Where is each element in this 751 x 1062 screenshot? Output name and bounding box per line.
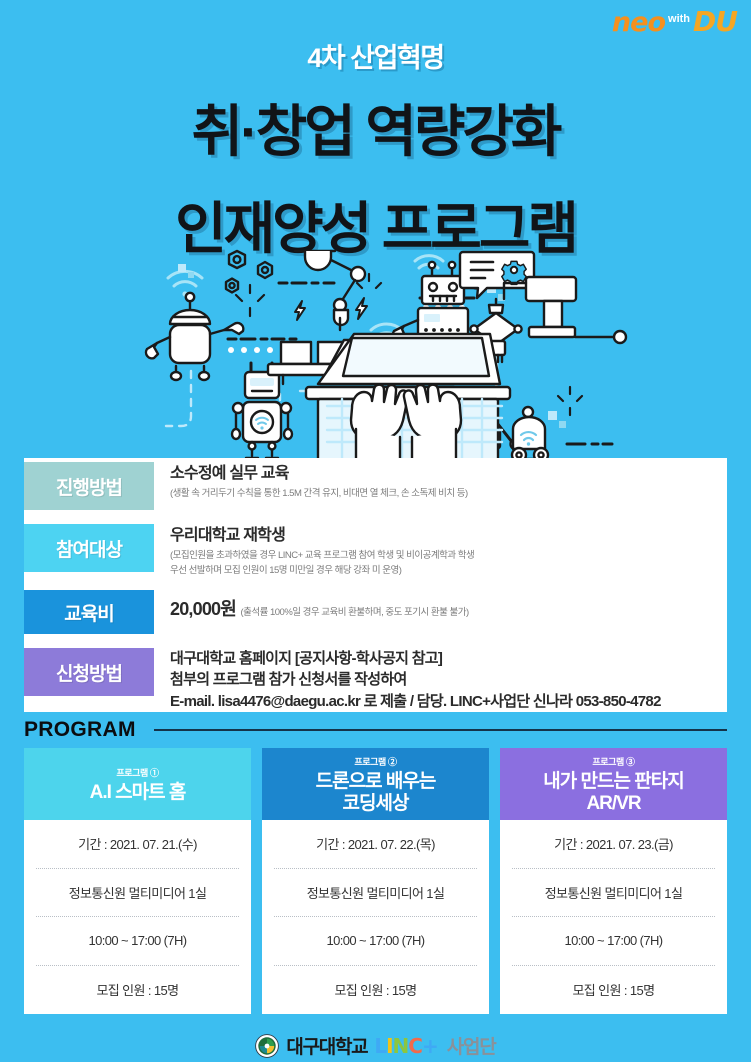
poster-headline: 4차 산업혁명 취·창업 역량강화 인재양성 프로그램 [0, 36, 751, 265]
laptop-hands-icon [306, 334, 510, 461]
program-card-3-title-line1: 내가 만드는 판타지 [500, 771, 727, 793]
sparkle-icon [558, 387, 582, 415]
info-row-method: 진행방법 소수정예 실무 교육 (생활 속 거리두기 수칙을 통한 1.5M 간… [24, 462, 727, 510]
program-card-2-time: 10:00 ~ 17:00 (7H) [274, 917, 477, 966]
program-card-3[interactable]: 프로그램 ③ 내가 만드는 판타지 AR/VR 기간 : 2021. 07. 2… [500, 748, 727, 1014]
linc-letter-plus: + [422, 1034, 438, 1058]
decor-square [188, 272, 194, 278]
program-card-3-body: 기간 : 2021. 07. 23.(금) 정보통신원 멀티미디어 1실 10:… [500, 820, 727, 1014]
program-card-1-time: 10:00 ~ 17:00 (7H) [36, 917, 239, 966]
program-card-3-time: 10:00 ~ 17:00 (7H) [512, 917, 715, 966]
program-card-2-place: 정보통신원 멀티미디어 1실 [274, 869, 477, 918]
footer-team-name: 사업단 [447, 1032, 496, 1059]
program-section-header: PROGRAM [24, 718, 727, 742]
program-card-3-place: 정보통신원 멀티미디어 1실 [512, 869, 715, 918]
program-card-1-period: 기간 : 2021. 07. 21.(수) [36, 820, 239, 869]
footer-logos: 대구대학교 L I N C + 사업단 [0, 1032, 751, 1059]
linc-letter-c: C [408, 1034, 422, 1058]
info-row-apply-line2: 첨부의 프로그램 참가 신청서를 작성하여 [170, 669, 661, 690]
program-card-2-period: 기간 : 2021. 07. 22.(목) [274, 820, 477, 869]
program-card-3-period: 기간 : 2021. 07. 23.(금) [512, 820, 715, 869]
info-row-target-body: 우리대학교 재학생 (모집인원을 초과하였을 경우 LINC+ 교육 프로그램 … [154, 524, 474, 579]
program-card-2-tag: 프로그램 ② [262, 755, 489, 768]
robotics-illustration [0, 246, 751, 461]
bolt-spark-icon [356, 298, 367, 319]
brand-neo-text: neo [612, 9, 665, 36]
info-row-target-sub2: 우선 선발하며 모집 인원이 15명 미만일 경우 해당 강좌 미 운영) [170, 564, 474, 578]
info-row-apply-line3: E-mail. lisa4476@daegu.ac.kr 로 제출 / 담당. … [170, 691, 661, 712]
program-heading-rule [154, 729, 727, 731]
program-cards: 프로그램 ① A.I 스마트 홈 기간 : 2021. 07. 21.(수) 정… [24, 748, 727, 1014]
brand-du-text: DU [693, 8, 737, 36]
decor-square [548, 411, 557, 420]
bolt-icon [258, 262, 272, 278]
program-card-3-tag: 프로그램 ③ [500, 755, 727, 768]
info-row-method-sub: (생활 속 거리두기 수칙을 통한 1.5M 간격 유지, 비대면 열 체크, … [170, 487, 468, 501]
headline-kicker: 4차 산업혁명 [0, 36, 751, 75]
bolt-icon [229, 251, 245, 268]
info-row-apply-label: 신청방법 [24, 648, 154, 696]
wifi-icon [168, 271, 202, 296]
decor-square [559, 421, 566, 428]
info-row-method-main: 소수정예 실무 교육 [170, 464, 468, 484]
program-heading: PROGRAM [24, 718, 136, 742]
program-card-1-header: 프로그램 ① A.I 스마트 홈 [24, 748, 251, 820]
program-card-2-body: 기간 : 2021. 07. 22.(목) 정보통신원 멀티미디어 1실 10:… [262, 820, 489, 1014]
program-card-1-body: 기간 : 2021. 07. 21.(수) 정보통신원 멀티미디어 1실 10:… [24, 820, 251, 1014]
illustration-svg [0, 246, 751, 461]
info-row-target-main: 우리대학교 재학생 [170, 526, 474, 546]
info-row-apply-body: 대구대학교 홈페이지 [공지사항-학사공지 참고] 첨부의 프로그램 참가 신청… [154, 648, 661, 712]
info-panel: 진행방법 소수정예 실무 교육 (생활 속 거리두기 수칙을 통한 1.5M 간… [24, 458, 727, 712]
info-row-method-body: 소수정예 실무 교육 (생활 속 거리두기 수칙을 통한 1.5M 간격 유지,… [154, 462, 468, 501]
info-row-fee-label: 교육비 [24, 590, 154, 634]
footer-university-name: 대구대학교 [286, 1032, 367, 1059]
robot-round-icon [146, 293, 243, 380]
info-row-fee-sub: (출석률 100%일 경우 교육비 환불하며, 중도 포기시 환불 불가) [240, 607, 468, 618]
program-card-3-capacity: 모집 인원 : 15명 [512, 966, 715, 1015]
info-row-fee: 교육비 20,000원 (출석률 100%일 경우 교육비 환불하며, 중도 포… [24, 590, 727, 634]
info-row-apply-line1: 대구대학교 홈페이지 [공지사항-학사공지 참고] [170, 648, 661, 669]
brand-logo: neo with DU [612, 8, 737, 36]
program-card-1-capacity: 모집 인원 : 15명 [36, 966, 239, 1015]
program-card-3-header: 프로그램 ③ 내가 만드는 판타지 AR/VR [500, 748, 727, 820]
brand-with-text: with [668, 14, 690, 25]
footer-linc-logo: L I N C + [374, 1034, 437, 1058]
program-card-2-title-line1: 드론으로 배우는 [262, 771, 489, 793]
info-row-apply: 신청방법 대구대학교 홈페이지 [공지사항-학사공지 참고] 첨부의 프로그램 … [24, 648, 727, 696]
program-card-1-place: 정보통신원 멀티미디어 1실 [36, 869, 239, 918]
program-card-2-capacity: 모집 인원 : 15명 [274, 966, 477, 1015]
bolt-icon [226, 279, 238, 293]
program-card-1-tag: 프로그램 ① [24, 766, 251, 779]
info-row-target-sub1: (모집인원을 초과하였을 경우 LINC+ 교육 프로그램 참여 학생 및 비이… [170, 549, 474, 563]
info-row-fee-body: 20,000원 (출석률 100%일 경우 교육비 환불하며, 중도 포기시 환… [154, 590, 469, 621]
sparkle-icon [236, 285, 264, 316]
program-card-2[interactable]: 프로그램 ② 드론으로 배우는 코딩세상 기간 : 2021. 07. 22.(… [262, 748, 489, 1014]
info-row-method-label: 진행방법 [24, 462, 154, 510]
info-row-target-label: 참여대상 [24, 524, 154, 572]
speech-bubble-gear-icon [460, 252, 534, 298]
bolt-spark-icon [295, 301, 305, 320]
info-row-fee-main: 20,000원 [170, 599, 236, 619]
program-card-2-header: 프로그램 ② 드론으로 배우는 코딩세상 [262, 748, 489, 820]
university-emblem-icon [255, 1034, 279, 1058]
linc-letter-n: N [393, 1034, 409, 1058]
program-card-3-title-line2: AR/VR [500, 793, 727, 815]
linc-letter-l: L [374, 1034, 386, 1058]
info-row-target: 참여대상 우리대학교 재학생 (모집인원을 초과하였을 경우 LINC+ 교육 … [24, 524, 727, 572]
robot-arm-ceiling-icon [295, 251, 365, 330]
program-card-1-title: A.I 스마트 홈 [24, 782, 251, 804]
program-card-2-title-line2: 코딩세상 [262, 793, 489, 815]
decor-square [178, 264, 186, 272]
program-card-1[interactable]: 프로그램 ① A.I 스마트 홈 기간 : 2021. 07. 21.(수) 정… [24, 748, 251, 1014]
headline-title-line1: 취·창업 역량강화 [0, 87, 751, 168]
